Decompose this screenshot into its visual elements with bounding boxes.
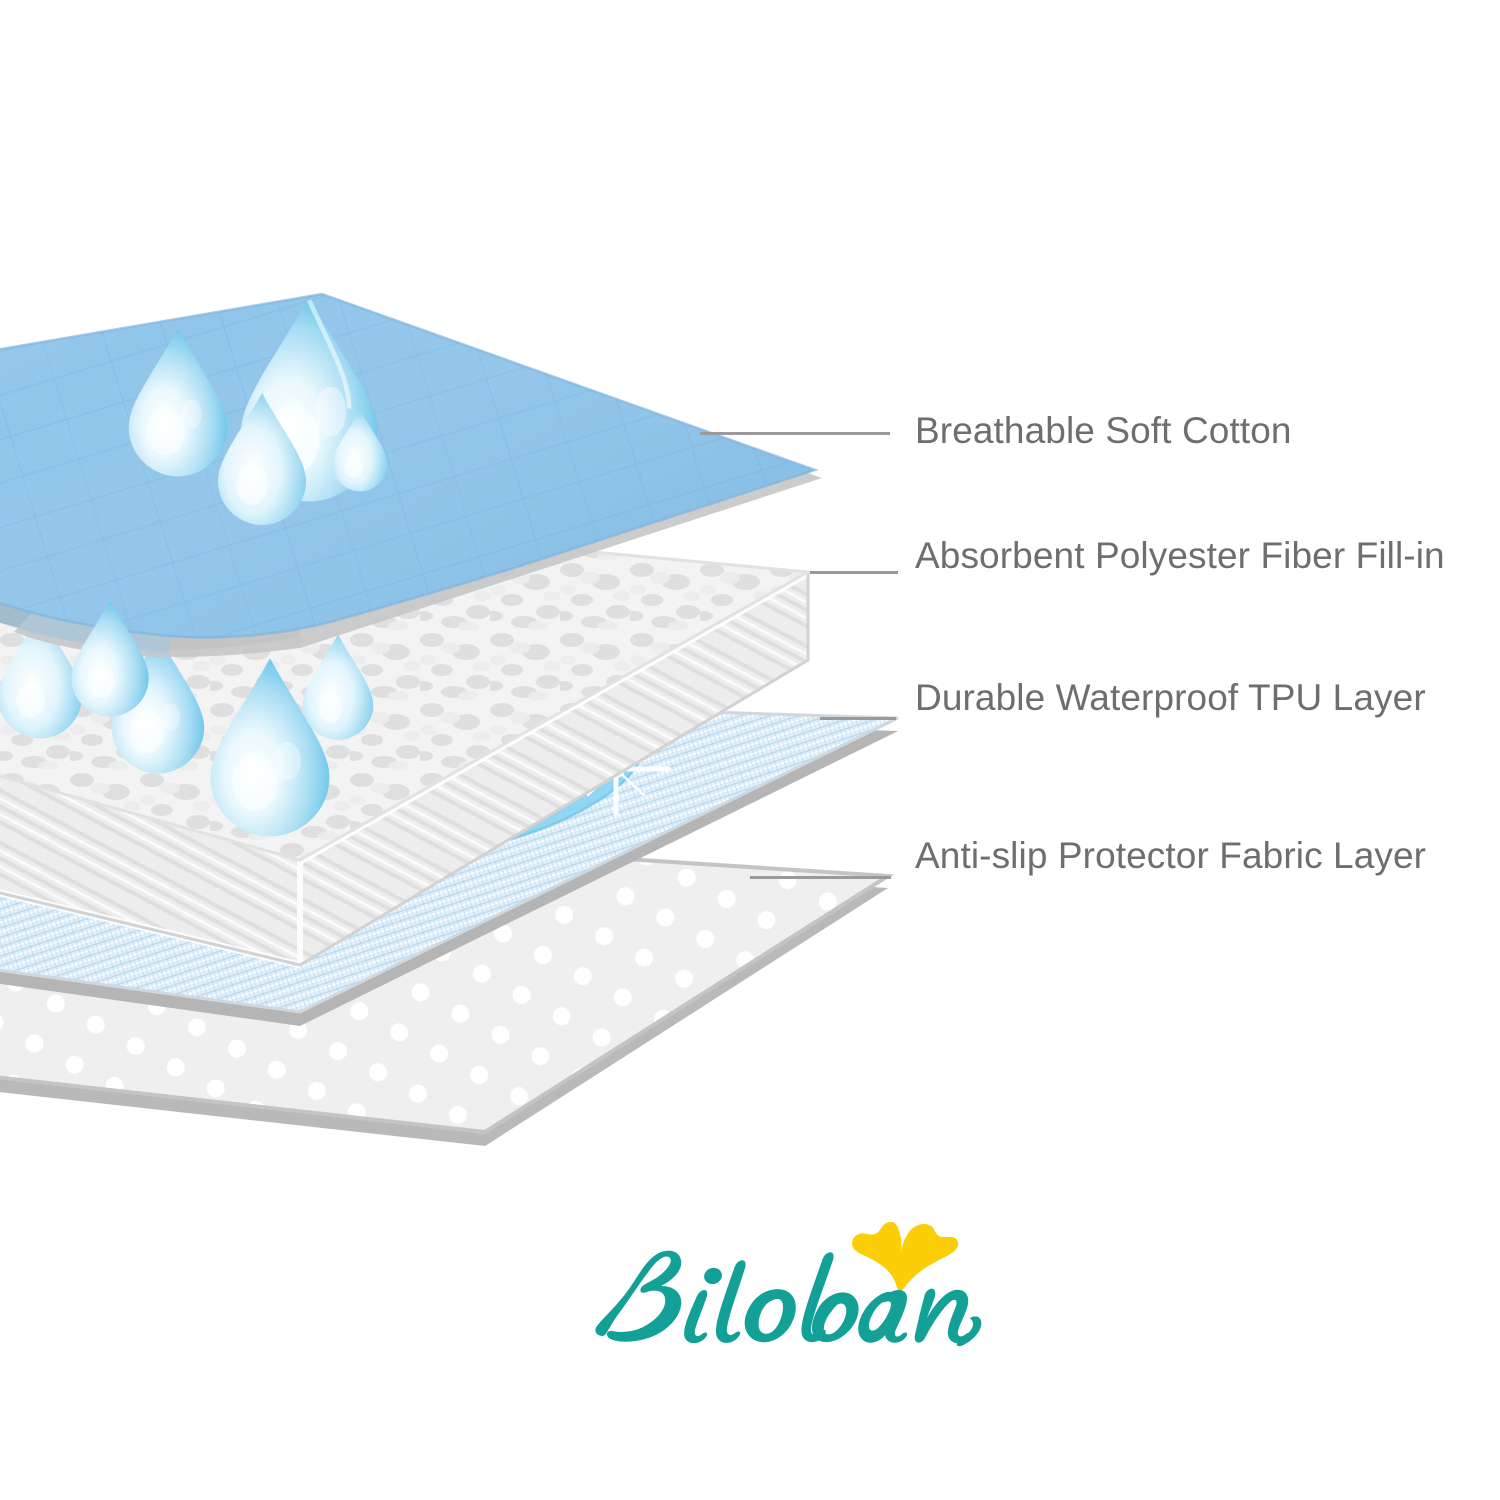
leader-line-layer-4	[750, 876, 891, 879]
product-layer-diagram: Breathable Soft Cotton Absorbent Polyest…	[0, 0, 1500, 1500]
leader-line-layer-1	[700, 432, 890, 435]
callout-label-absorbent-polyester-fiber-fill-in: Absorbent Polyester Fiber Fill-in	[915, 534, 1465, 578]
leader-line-layer-2	[810, 571, 898, 574]
callout-label-anti-slip-protector-fabric-layer: Anti-slip Protector Fabric Layer	[915, 834, 1460, 878]
leader-line-layer-3	[820, 717, 896, 720]
callout-label-durable-waterproof-tpu-layer: Durable Waterproof TPU Layer	[915, 676, 1460, 720]
brand-logo	[585, 1218, 985, 1368]
callout-label-breathable-soft-cotton: Breathable Soft Cotton	[915, 409, 1475, 453]
